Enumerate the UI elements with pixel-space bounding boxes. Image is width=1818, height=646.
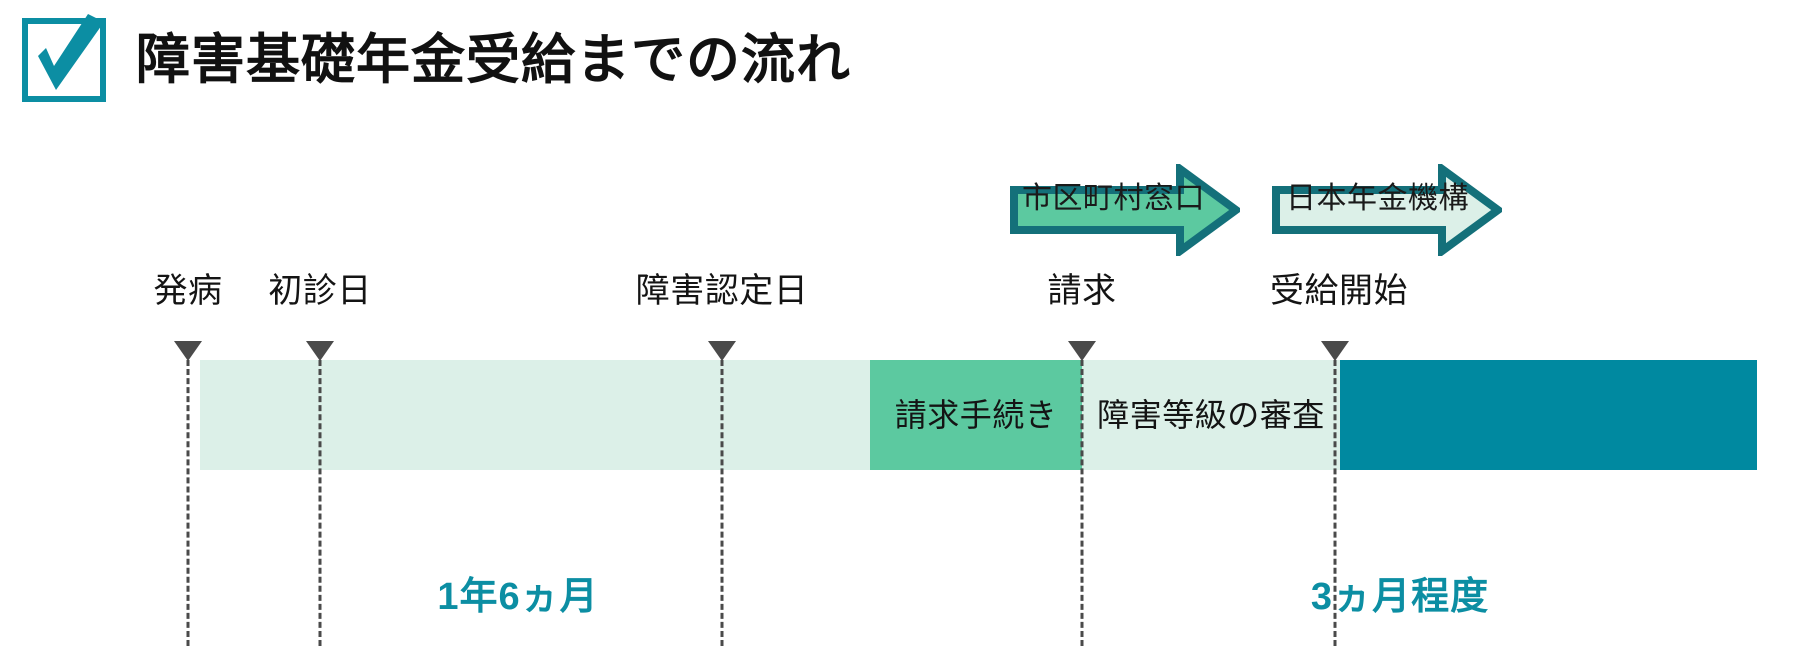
tick-label-onset: 発病 [154,274,223,308]
tick-label-first-visit: 初診日 [268,274,372,308]
marker-first-visit [306,341,334,361]
dashline-claim [1081,360,1084,646]
dashline-onset [187,360,190,646]
tick-label-claim: 請求 [1048,274,1117,308]
marker-certification-date [708,341,736,361]
marker-onset [174,341,202,361]
bar-segment-label: 請求手続き [895,399,1058,431]
timeline: 請求手続き 障害等級の審査 発病 初診日 障害認定日 請求 受給開始 1年6ヵ月… [0,0,1818,646]
bar-segment-grade-review: 障害等級の審査 [1082,360,1340,470]
bar-segment-payment-started [1340,360,1757,470]
bar-segment-claim-procedure: 請求手続き [870,360,1082,470]
marker-claim [1068,341,1096,361]
dashline-certification-date [721,360,724,646]
infographic-root: 障害基礎年金受給までの流れ 市区町村窓口 日本年金機構 請求手続き 障害等級の審… [0,0,1818,646]
duration-label-3-months: 3ヵ月程度 [1311,578,1489,616]
marker-payment-start [1321,341,1349,361]
bar-segment-waiting-period [200,360,870,470]
tick-label-certification-date: 障害認定日 [636,274,809,308]
dashline-first-visit [319,360,322,646]
duration-label-18-months: 1年6ヵ月 [437,578,598,616]
tick-label-payment-start: 受給開始 [1270,274,1408,308]
bar-segment-label: 障害等級の審査 [1097,399,1325,431]
